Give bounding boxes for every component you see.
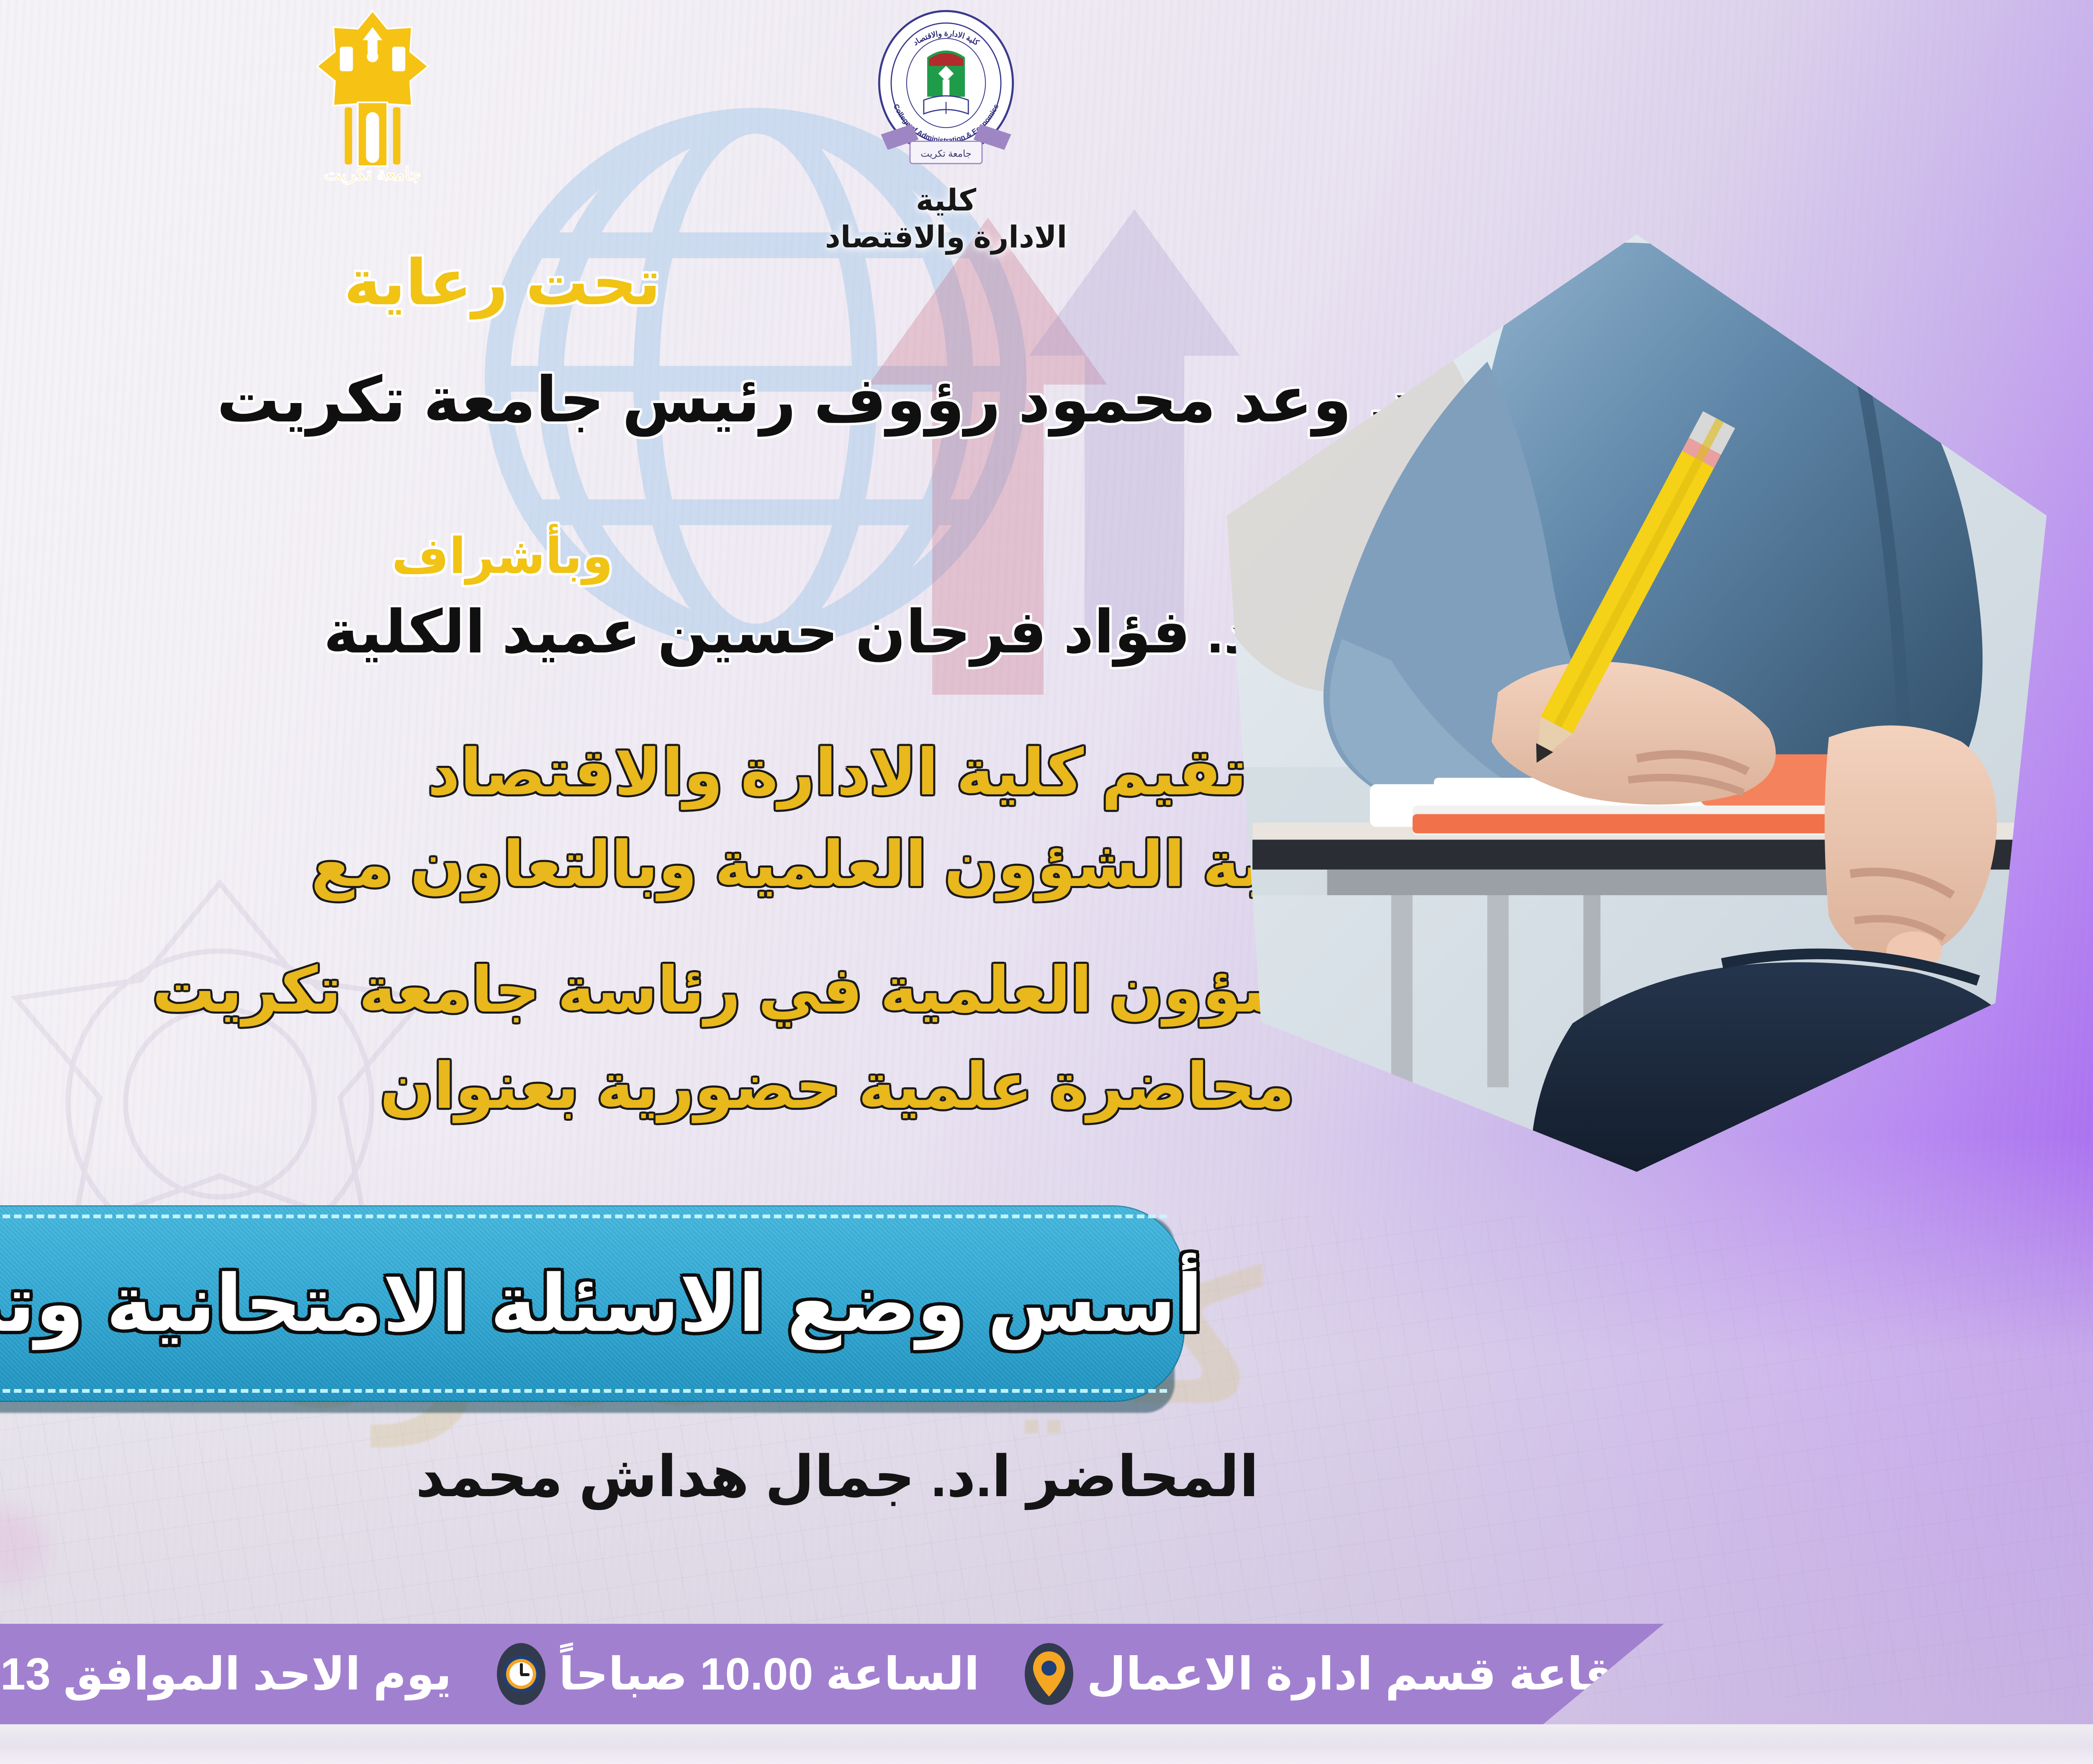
patronage-label: تحت رعاية bbox=[0, 251, 1423, 314]
footer-location-text: قاعة قسم ادارة الاعمال bbox=[1087, 1648, 1614, 1700]
college-logo-block: كلية الادارة والاقتصاد College of Admini… bbox=[808, 4, 1084, 256]
footer-date-text: يوم الاحد الموافق 2025/4/13 bbox=[0, 1648, 452, 1700]
college-caption-line2: الادارة والاقتصاد bbox=[825, 219, 1067, 256]
footer-time-item: الساعة 10.00 صباحاً bbox=[494, 1643, 980, 1705]
svg-text:جامعة تكريت: جامعة تكريت bbox=[921, 148, 972, 159]
college-administration-economics-emblem-icon: كلية الادارة والاقتصاد College of Admini… bbox=[858, 4, 1034, 184]
footer-date-item: يوم الاحد الموافق 2025/4/13 bbox=[0, 1643, 452, 1705]
supervision-label: وبأشراف bbox=[0, 532, 1423, 581]
event-title: أسس وضع الاسئلة الامتحانية وتصحيحها bbox=[0, 1258, 1203, 1350]
university-logo-block: جامعة تكريت bbox=[285, 4, 460, 184]
footer-location-item: قاعة قسم ادارة الاعمال bbox=[1022, 1643, 1614, 1705]
location-pin-icon bbox=[1022, 1643, 1076, 1705]
footer-bottom-strip bbox=[0, 1724, 2093, 1764]
footer-bar: قاعة قسم ادارة الاعمال الساعة 10.00 صباح… bbox=[0, 1624, 1664, 1724]
footer-time-text: الساعة 10.00 صباحاً bbox=[559, 1648, 980, 1700]
lecturer-line: المحاضر ا.د. جمال هداش محمد bbox=[0, 1448, 2093, 1505]
clock-icon bbox=[494, 1643, 548, 1705]
university-name-label: جامعة تكريت bbox=[324, 164, 421, 185]
college-caption: كلية الادارة والاقتصاد bbox=[825, 182, 1067, 256]
poster-root: كلية الادارة Republic of Iraq Ministry o… bbox=[0, 0, 2093, 1764]
ribbon-body: أسس وضع الاسئلة الامتحانية وتصحيحها bbox=[0, 1205, 1185, 1402]
college-caption-line1: كلية bbox=[825, 182, 1067, 219]
event-title-ribbon: أسس وضع الاسئلة الامتحانية وتصحيحها bbox=[0, 1205, 1185, 1402]
tikrit-university-emblem-icon: جامعة تكريت bbox=[289, 4, 456, 184]
